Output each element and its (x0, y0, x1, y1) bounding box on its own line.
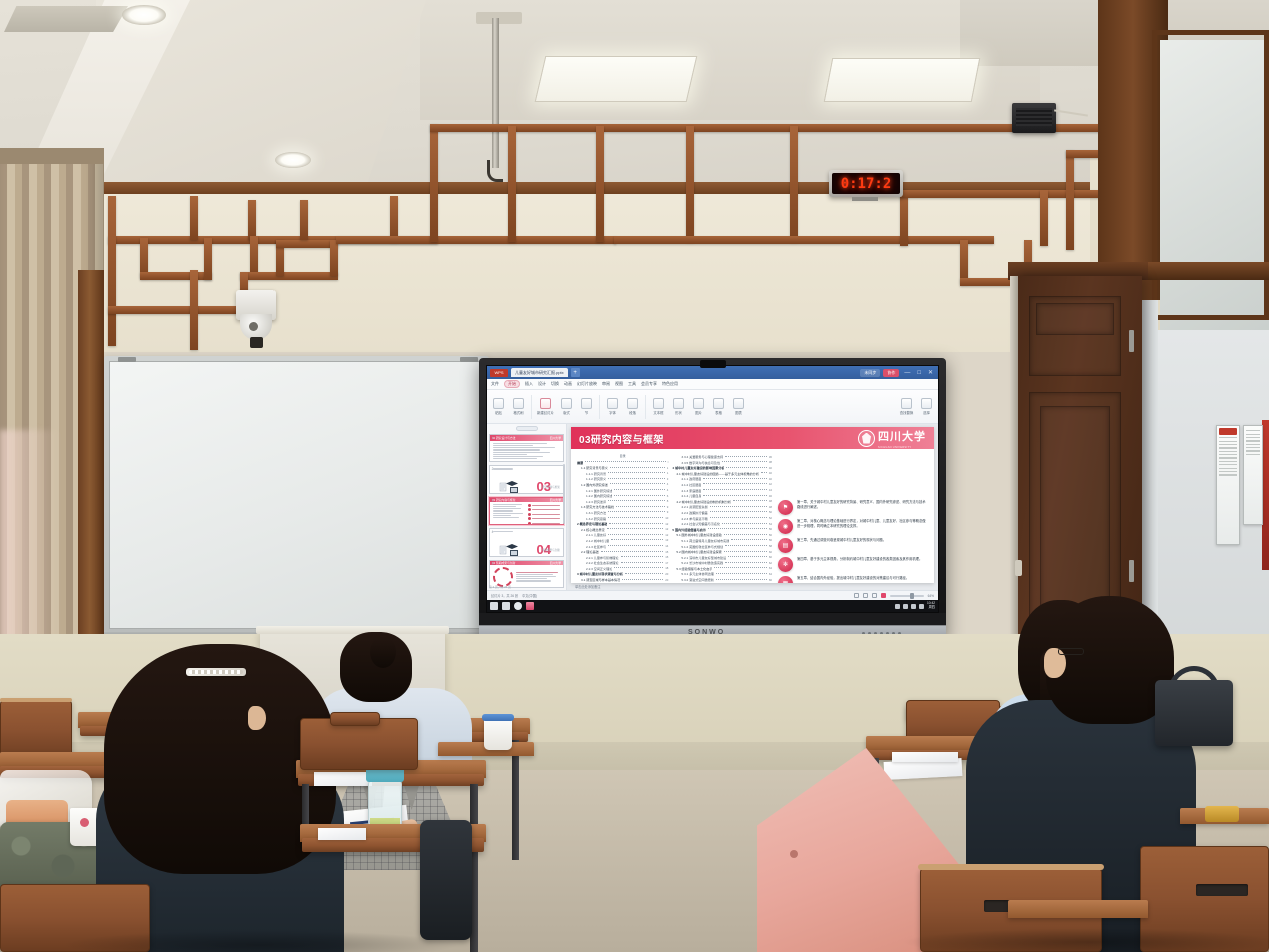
lattice-bar (336, 236, 616, 244)
ribbon-label: 选择 (923, 410, 930, 415)
toc-leader-dots (716, 573, 767, 574)
lattice-bar (190, 196, 198, 240)
toc-row: 4.2.1 资源配置失衡48 (672, 504, 772, 509)
chair-edge (0, 698, 72, 702)
slide-canvas-pane[interactable]: 03研究内容与框架 四川大学 SICHUAN UNIVERSITY (567, 424, 938, 590)
toc-page-number: 62 (769, 561, 772, 565)
wooden-pillar (78, 270, 104, 650)
toc-row: 3.3.5 数字鸿沟与信息可及性38 (672, 460, 772, 465)
ribbon-label: 段落 (629, 410, 636, 415)
menu-item-view[interactable]: 视图 (615, 381, 623, 387)
toc-entry-text: 4.1.1 政府层面 (672, 476, 701, 481)
menu-item-transition[interactable]: 切换 (551, 381, 559, 387)
toc-page-number: 1 (667, 466, 669, 470)
projector-mount-plate (476, 12, 522, 24)
toc-entry-text: 2.1.3 社区参与 (577, 544, 606, 549)
toc-row: 5.1.2 英国伦敦社区参与式规划58 (672, 544, 772, 549)
cloud-sync-button[interactable]: 未同步 (860, 369, 880, 377)
menu-item-insert[interactable]: 插入 (525, 381, 533, 387)
ribbon-button-find-replace[interactable]: 查找替换 (899, 398, 914, 415)
interactive-display-panel[interactable]: WPS 儿童友好城市研究汇报.pptx + 未同步 协作 — □ ✕ 文件 开始… (479, 358, 946, 640)
toc-row: 3 城中村儿童友好现状调查与分析20 (577, 571, 668, 576)
hair-clip (186, 668, 246, 676)
section-subtitle: 预期成果与创新 (542, 548, 560, 552)
toc-row: 摘要I (577, 460, 668, 465)
toc-leader-dots (611, 539, 663, 540)
toc-leader-dots (601, 551, 664, 552)
lattice-bar (1066, 150, 1074, 250)
toc-leader-dots (733, 500, 767, 501)
toc-entry-text: 1.1.1 研究背景 (577, 471, 606, 476)
ribbon-button-paste[interactable]: 粘贴 (491, 398, 506, 415)
toc-leader-dots (609, 523, 663, 524)
menu-item-animation[interactable]: 动画 (564, 381, 572, 387)
lattice-bar (300, 200, 308, 240)
menu-item-file[interactable]: 文件 (491, 381, 499, 387)
toc-row: 4.1.3 家庭层面44 (672, 488, 772, 493)
toc-row: 5.3 经验借鉴与本土化启示64 (672, 566, 772, 571)
thumbnail-number: 5 (490, 562, 496, 566)
toc-leader-dots (716, 579, 767, 580)
toc-leader-dots (608, 534, 663, 535)
chapter-summary-row: ⚑第一章，关于城中村儿童友好的研究背景、研究意义、国内外研究综述、研究方法与技术… (778, 500, 928, 515)
ribbon-button-paragraph[interactable]: 段落 (625, 398, 640, 415)
menu-bar[interactable]: 文件 开始 插入 设计 切换 动画 幻灯片放映 审阅 视图 工具 会员专享 特色… (487, 379, 938, 390)
toc-leader-dots (703, 489, 766, 490)
toc-page-number: 4 (667, 482, 669, 486)
new-tab-button[interactable]: + (571, 368, 580, 377)
toc-leader-dots (725, 456, 767, 457)
current-slide[interactable]: 03研究内容与框架 四川大学 SICHUAN UNIVERSITY (571, 427, 934, 583)
view-slideshow-icon[interactable] (881, 593, 886, 598)
lattice-bar (276, 240, 338, 248)
menu-item-tools[interactable]: 工具 (628, 381, 636, 387)
toc-entry-text: 摘要 (577, 460, 583, 465)
toc-page-number: 12 (665, 533, 668, 537)
toc-row: 4.2.3 参与渠道不畅52 (672, 516, 772, 521)
toc-page-number: 38 (769, 460, 772, 464)
close-button[interactable]: ✕ (926, 369, 935, 376)
toc-entry-text: 1.2.2 国内研究综述 (577, 493, 612, 498)
thumbnail-scrollbar[interactable] (563, 464, 565, 524)
lattice-bar (508, 126, 516, 242)
ribbon-button-chart[interactable]: 图表 (731, 398, 746, 415)
toc-leader-dots (622, 579, 663, 580)
toc-leader-dots (616, 506, 665, 507)
toc-page-number: 66 (769, 578, 772, 582)
lattice-bar (204, 238, 212, 280)
zoom-level: 64% (928, 594, 934, 598)
cup-lid (482, 714, 514, 721)
toc-entry-text: 2.1 核心概念界定 (577, 527, 605, 532)
toc-row: 5.2.2 长沙市城中村微改造实践62 (672, 560, 772, 565)
toc-page-number: 9 (667, 505, 669, 509)
toc-row: 1.2.3 研究述评8 (577, 499, 668, 504)
thumbnail-content (490, 441, 563, 462)
ribbon-label: 查找替换 (900, 410, 914, 415)
font-icon (607, 398, 618, 409)
input-method-icon[interactable] (919, 604, 924, 609)
desk-surface (1008, 900, 1148, 918)
toc-leader-dots (608, 500, 665, 501)
toc-entry-text: 4.1.4 儿童自身 (672, 493, 701, 498)
ribbon-label: 粘贴 (495, 410, 502, 415)
toc-page-number: 58 (769, 544, 772, 548)
whiteboard-clip (118, 357, 136, 362)
maximize-button[interactable]: □ (915, 370, 923, 376)
toc-row: 5.1.1 荷兰鹿特丹儿童友好城市实践56 (672, 538, 772, 543)
toc-entry-text: 1.3.2 研究思路 (577, 516, 606, 521)
toc-entry-text: 4.2.4 社会认知偏差与污名化 (672, 521, 720, 526)
status-language[interactable]: 中文(中国) (522, 593, 537, 598)
toc-row: 2.2 理论基础15 (577, 549, 668, 554)
system-tray[interactable]: 10:42 周四 (895, 602, 935, 609)
toc-entry-text: 4.2.3 参与渠道不畅 (672, 516, 707, 521)
chapter-summary-column: ⚑第一章，关于城中村儿童友好的研究背景、研究意义、国内外研究综述、研究方法与技术… (776, 453, 928, 583)
toc-leader-dots (725, 545, 767, 546)
chapter-summary-row: ◉第二章，对核心概念与理论基础进行界定，对城中村儿童、儿童友好、社区参与等概念做… (778, 519, 928, 534)
toc-entry-text: 4.2.1 资源配置失衡 (672, 504, 707, 509)
shape-icon (673, 398, 684, 409)
share-button[interactable]: 协作 (883, 369, 899, 377)
toc-row: 1.3 研究方法与技术路线9 (577, 504, 668, 509)
ribbon-label: 表格 (715, 410, 722, 415)
notes-pane[interactable]: 单击此处添加备注 (571, 583, 934, 590)
lattice-bar (1066, 150, 1100, 158)
toc-entry-text: 1.1 研究背景与意义 (577, 465, 608, 470)
lattice-bar (250, 236, 258, 276)
gear-icon: ✻ (778, 557, 793, 572)
powerpoint-app[interactable]: WPS 儿童友好城市研究汇报.pptx + 未同步 协作 — □ ✕ 文件 开始… (487, 366, 938, 612)
toc-entry-text: 4.1.2 社区层面 (672, 482, 701, 487)
toc-page-number: 9 (667, 510, 669, 514)
toc-leader-dots (722, 461, 767, 462)
digital-clock: 0:17:2 (829, 170, 903, 197)
toc-page-number: 40 (769, 466, 772, 470)
slide-thumbnail[interactable]: 2 (489, 465, 564, 493)
toc-page-number: 50 (769, 510, 772, 514)
whiteboard-surface[interactable] (109, 361, 484, 629)
toc-page-number: 6 (667, 494, 669, 498)
status-slide-label: 幻灯片 3，共 26 张 (491, 593, 518, 598)
toc-entry-text: 1.2 国内外研究综述 (577, 482, 608, 487)
section-subtitle: 研究内容与框架 (542, 485, 560, 489)
slide-thumbnail-selected[interactable]: 3 03 研究内容与框架 四川大学 (489, 497, 564, 525)
whiteboard[interactable] (104, 356, 489, 634)
chart-icon (733, 398, 744, 409)
document-tab[interactable]: 儿童友好城市研究汇报.pptx (511, 368, 568, 377)
ribbon-button-layout[interactable]: 版式 (559, 398, 574, 415)
toc-leader-dots (610, 467, 665, 468)
toc-entry-text: 1.2.3 研究述评 (577, 499, 606, 504)
toc-row: 1.1.2 研究意义3 (577, 476, 668, 481)
toc-leader-dots (710, 511, 767, 512)
book-icon: ▦ (778, 576, 793, 583)
wps-taskbar-icon[interactable] (526, 602, 534, 610)
thumbnail-number: 1 (490, 436, 496, 440)
toc-page-number: 48 (769, 499, 772, 503)
notes-placeholder: 单击此处添加备注 (575, 584, 601, 589)
ribbon-label: 形状 (675, 410, 682, 415)
toc-page-number: 42 (769, 482, 772, 486)
network-icon[interactable] (895, 604, 900, 609)
toc-row: 4.1 城中村儿童友好建设的困境——基于多元主体视角的分析40 (672, 471, 772, 476)
lattice-bar (596, 126, 604, 242)
toc-page-number: 52 (769, 516, 772, 520)
clock-display: 0:17:2 (832, 173, 900, 194)
desk-papers (318, 828, 366, 840)
ribbon-button-textbox[interactable]: 文本框 (651, 398, 666, 415)
toc-leader-dots (714, 567, 766, 568)
toc-entry-text: 4.2 城中村儿童友好建设的制约机制分析 (672, 499, 731, 504)
door-lock-icon[interactable] (1015, 560, 1022, 576)
toc-row: 2 概念界定与理论基础12 (577, 521, 668, 526)
toc-page-number: 12 (665, 527, 668, 531)
toc-column-left: 目录 摘要I1.1 研究背景与意义11.1.1 研究背景11.1.2 研究意义3… (577, 453, 668, 583)
lattice-bar (900, 190, 908, 246)
shoulder-bag (1155, 680, 1233, 746)
floor-shadow (900, 928, 1269, 952)
toc-entry-text: 1.3.1 研究方法 (577, 510, 606, 515)
ceiling-panel-light (824, 58, 981, 102)
menu-item-member[interactable]: 会员专享 (641, 381, 657, 387)
table-icon (713, 398, 724, 409)
toc-page-number: 15 (665, 550, 668, 554)
toc-leader-dots (608, 478, 665, 479)
section-icon (581, 398, 592, 409)
volume-icon[interactable] (903, 604, 908, 609)
toc-entry-text: 5 国内外经验借鉴与启示 (672, 527, 706, 532)
menu-item-home[interactable]: 开始 (504, 380, 520, 388)
toc-leader-dots (614, 495, 664, 496)
view-normal-icon[interactable] (854, 593, 859, 598)
air-vent (4, 6, 128, 32)
toc-entry-text: 5.1 国外城中村儿童友好建设经验 (672, 532, 721, 537)
layout-icon (561, 398, 572, 409)
paste-icon (493, 398, 504, 409)
toc-row: 2.2.2 社会生态系统理论17 (577, 560, 668, 565)
toc-leader-dots (722, 523, 767, 524)
toc-row: 1.2.2 国内研究综述6 (577, 493, 668, 498)
slide-thumbnail[interactable]: 4 (489, 528, 564, 556)
toc-entry-text: 2 概念界定与理论基础 (577, 521, 607, 526)
zoom-slider[interactable] (890, 595, 924, 597)
chair-edge (918, 864, 1104, 870)
ribbon-button-select[interactable]: 选择 (919, 398, 934, 415)
cup-logo-icon (80, 818, 89, 827)
toc-row: 5.3.2 渐进式空间微更新66 (672, 577, 772, 582)
chapter-summary-row: ▦第五章，结合国内外经验，提出城中村儿童友好建设的对策建议与可行路径。 (778, 576, 928, 583)
display-camera-icon (700, 360, 726, 368)
toc-entry-text: 2.2 理论基础 (577, 549, 599, 554)
toc-page-number: 44 (769, 488, 772, 492)
university-name: 四川大学 (878, 431, 926, 443)
university-logo: 四川大学 SICHUAN UNIVERSITY (858, 427, 926, 449)
lattice-bar (108, 196, 116, 346)
clock-stand (852, 197, 878, 201)
toc-leader-dots (614, 567, 663, 568)
minimize-button[interactable]: — (902, 370, 912, 376)
menu-item-apps[interactable]: 特色应用 (662, 381, 678, 387)
toc-row: 2.1.2 城中村儿童13 (577, 538, 668, 543)
toc-row: 4.1.2 社区层面42 (672, 482, 772, 487)
slide-thumbnail-pane[interactable]: 1 02 研究设计与方法 四川大学 (487, 424, 567, 590)
toc-page-number: 40 (769, 477, 772, 481)
ribbon-label: 文本框 (653, 410, 663, 415)
lattice-bar (790, 126, 798, 242)
toc-entry-text: 2.2.2 社会生态系统理论 (577, 560, 619, 565)
ribbon-button-table[interactable]: 表格 (711, 398, 726, 415)
toc-leader-dots (724, 534, 767, 535)
toc-entry-text: 1.1.2 研究意义 (577, 476, 606, 481)
toc-row: 4 城中村儿童友好建设的影响因素分析40 (672, 465, 772, 470)
toc-entry-text: 3.1 调查区域与样本基本情况 (577, 577, 620, 582)
format-brush-icon (513, 398, 524, 409)
toc-page-number: 60 (769, 550, 772, 554)
toc-row: 1.1 研究背景与意义1 (577, 465, 668, 470)
lattice-bar (140, 272, 212, 280)
toc-page-number: 15 (665, 555, 668, 559)
slide-count-label: 第 3 页，共 26 页 (489, 585, 511, 589)
start-button-icon[interactable] (490, 602, 498, 610)
toc-entry-text: 4 城中村儿童友好建设的影响因素分析 (672, 465, 724, 470)
toc-entry-text: 3.3.5 数字鸿沟与信息可及性 (672, 460, 720, 465)
umbrella-button (790, 850, 798, 858)
status-bar[interactable]: 幻灯片 3，共 26 张 中文(中国) 64% (487, 590, 938, 600)
view-sorter-icon[interactable] (863, 593, 868, 598)
desk-papers (314, 772, 372, 786)
toc-page-number: 40 (769, 471, 772, 475)
chart-icon: ▤ (778, 538, 793, 553)
select-icon (921, 398, 932, 409)
door-hinge (1129, 560, 1134, 582)
toc-entry-text: 4.1 城中村儿童友好建设的困境——基于多元主体视角的分析 (672, 471, 759, 476)
chapter-summary-row: ✻第四章，基于多元主体视角，分析制约城中村儿童友好建设的各类因素及其作用机理。 (778, 557, 928, 572)
taskbar-clock[interactable]: 10:42 周四 (927, 602, 935, 609)
toc-entry-text: 3.3.4 关爱服务与心理健康支持 (672, 454, 723, 459)
ribbon-button-font[interactable]: 字体 (605, 398, 620, 415)
toc-leader-dots (708, 528, 767, 529)
picture-icon (693, 398, 704, 409)
desk-leg (512, 740, 519, 860)
toc-entry-text: 5.3.1 多元主体协同治理 (672, 571, 714, 576)
wall-camera-stem (250, 337, 263, 348)
thumbnail-title: 02 研究设计与方法 (492, 436, 515, 440)
paragraph-icon (627, 398, 638, 409)
toc-row: 2.2.1 儿童参与阶梯理论15 (577, 555, 668, 560)
toc-entry-text: 5.3 经验借鉴与本土化启示 (672, 566, 712, 571)
view-reading-icon[interactable] (872, 593, 877, 598)
pin-icon: ◉ (778, 519, 793, 534)
thumbnail-number: 3 (490, 499, 496, 503)
toc-leader-dots (621, 556, 664, 557)
browser-icon[interactable] (514, 602, 522, 610)
projector-mount-hook (487, 160, 503, 182)
speaker-grille (1016, 108, 1052, 126)
toc-row: 5.2.1 深圳市儿童友好型城市建设60 (672, 555, 772, 560)
toc-row: 1.2.1 国外研究综述4 (577, 488, 668, 493)
toc-leader-dots (608, 545, 663, 546)
toc-entry-text: 5.2.1 深圳市儿童友好型城市建设 (672, 555, 726, 560)
menu-item-design[interactable]: 设计 (538, 381, 546, 387)
door-panel-upper-inner (1036, 303, 1114, 335)
toc-entry-text: 5.1.1 荷兰鹿特丹儿童友好城市实践 (672, 538, 729, 543)
thumbnail-university: 四川大学 (550, 436, 561, 440)
toc-row: 2.1.1 儿童友好12 (577, 532, 668, 537)
menu-item-review[interactable]: 审阅 (602, 381, 610, 387)
windows-taskbar[interactable]: 10:42 周四 (487, 600, 938, 612)
chapter-summary-text: 第一章，关于城中村儿童友好的研究背景、研究意义、国内外研究综述、研究方法与技术路… (797, 500, 928, 510)
file-explorer-icon[interactable] (502, 602, 510, 610)
toc-leader-dots (703, 495, 766, 496)
lattice-bar (686, 126, 694, 242)
slide-header: 03研究内容与框架 四川大学 SICHUAN UNIVERSITY (571, 427, 934, 449)
graduation-illustration-icon (499, 479, 519, 493)
slide-thumbnail[interactable]: 1 02 研究设计与方法 四川大学 (489, 434, 564, 462)
toc-page-number: 46 (769, 494, 772, 498)
toc-page-number: 4 (667, 488, 669, 492)
lattice-bar (430, 124, 1100, 132)
toc-row: 1.2 国内外研究综述4 (577, 482, 668, 487)
toc-row: 1.1.1 研究背景1 (577, 471, 668, 476)
toc-leader-dots (724, 551, 767, 552)
toc-row: 4.2.4 社会认知偏差与污名化54 (672, 521, 772, 526)
toc-page-number: 1 (667, 471, 669, 475)
ribbon-button-shape[interactable]: 形状 (671, 398, 686, 415)
toc-page-number: 18 (665, 566, 668, 570)
slide-body: 目录 摘要I1.1 研究背景与意义11.1.1 研究背景11.1.2 研究意义3… (571, 449, 934, 583)
toc-row: 3.1 调查区域与样本基本情况20 (577, 577, 668, 582)
toc-page-number: 12 (665, 522, 668, 526)
ribbon-toolbar[interactable]: 粘贴 格式刷 新建幻灯片 版式 (487, 390, 938, 424)
thumbnail-number: 2 (490, 467, 496, 471)
ribbon-button-new-slide[interactable]: 新建幻灯片 (537, 398, 554, 415)
toc-leader-dots (710, 506, 767, 507)
toc-leader-dots (608, 517, 663, 518)
battery-icon[interactable] (911, 604, 916, 609)
notice-header (1219, 428, 1237, 435)
menu-item-slideshow[interactable]: 幻灯片放映 (577, 381, 597, 387)
toc-entry-text: 1.3 研究方法与技术路线 (577, 504, 614, 509)
chair-back[interactable] (330, 712, 380, 726)
toc-leader-dots (608, 511, 665, 512)
toc-leader-dots (703, 478, 766, 479)
toc-leader-dots (625, 573, 663, 574)
ribbon-button-picture[interactable]: 图片 (691, 398, 706, 415)
ribbon-label: 格式刷 (513, 410, 523, 415)
toc-entry-text: 2.2.3 空间正义理论 (577, 566, 612, 571)
eyeglasses (1058, 648, 1084, 655)
toc-leader-dots (621, 562, 664, 563)
flag-icon: ⚑ (778, 500, 793, 515)
toc-page-number: 56 (769, 533, 772, 537)
ribbon-button-section[interactable]: 节 (579, 398, 594, 415)
slide-thumbnail[interactable]: 5 04 预期成果与创新 四川大学 (489, 560, 564, 588)
toc-row: 4.1.4 儿童自身46 (672, 493, 772, 498)
toc-page-number: 36 (769, 455, 772, 459)
toc-row: 3.3.4 关爱服务与心理健康支持36 (672, 454, 772, 459)
toc-leader-dots (607, 528, 664, 529)
thumbnail-pane-header (489, 426, 564, 431)
toc-entry-text: 4.2.2 政策执行偏差 (672, 510, 707, 515)
toc-entry-text: 3 城中村儿童友好现状调查与分析 (577, 571, 623, 576)
app-body: 1 02 研究设计与方法 四川大学 (487, 424, 938, 590)
toc-leader-dots (585, 461, 665, 462)
backpack-under-desk (420, 820, 472, 940)
display-screen[interactable]: WPS 儿童友好城市研究汇报.pptx + 未同步 协作 — □ ✕ 文件 开始… (486, 365, 939, 613)
toc-page-number: 20 (665, 578, 668, 582)
ribbon-button-format-brush[interactable]: 格式刷 (511, 398, 526, 415)
